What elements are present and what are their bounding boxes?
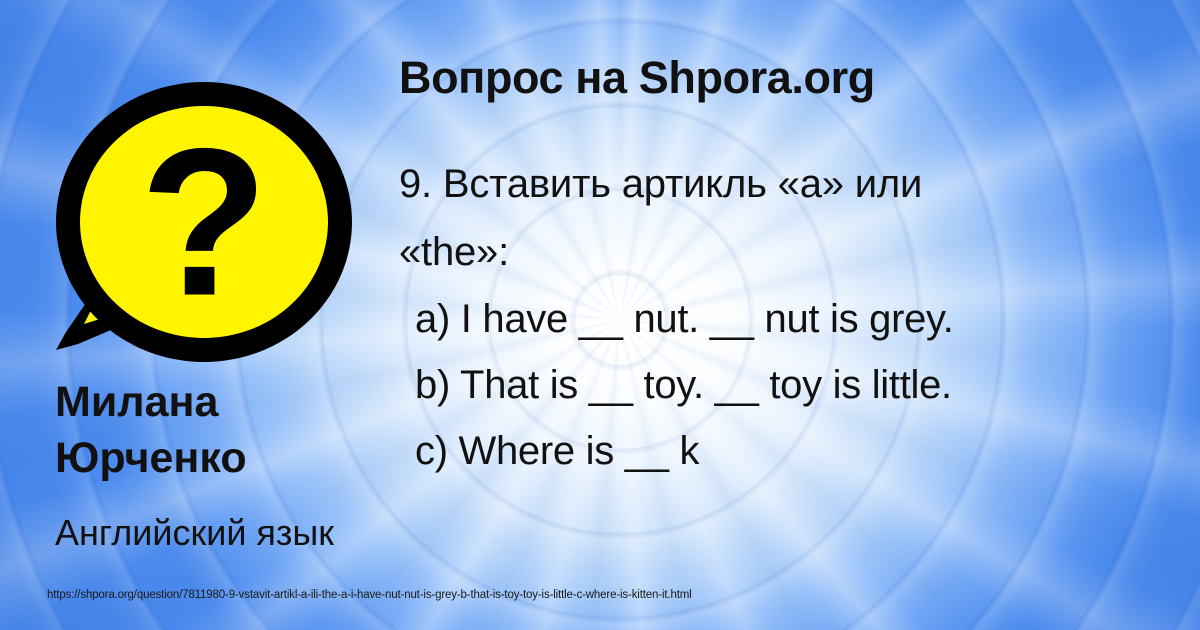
subject-label: Английский язык — [55, 512, 334, 554]
author-name: Милана Юрченко — [55, 374, 385, 486]
question-prompt-line-2: «the»: — [399, 218, 1139, 286]
question-body: 9. Вставить артикль «a» или «the»: a) I … — [399, 150, 1139, 484]
question-mark-glyph: ? — [140, 105, 268, 340]
page-title: Вопрос на Shpora.org — [399, 52, 875, 104]
question-answer-a: a) I have __ nut. __ nut is grey. — [399, 286, 1139, 352]
question-speech-bubble-icon: ? — [48, 78, 360, 368]
question-answer-b: b) That is __ toy. __ toy is little. — [399, 352, 1139, 418]
question-answer-c: c) Where is __ k — [399, 418, 1139, 484]
question-card: ? Вопрос на Shpora.org 9. Вставить артик… — [0, 0, 1200, 630]
source-url[interactable]: https://shpora.org/question/7811980-9-vs… — [47, 589, 692, 601]
question-prompt-line-1: 9. Вставить артикль «a» или — [399, 150, 1139, 218]
